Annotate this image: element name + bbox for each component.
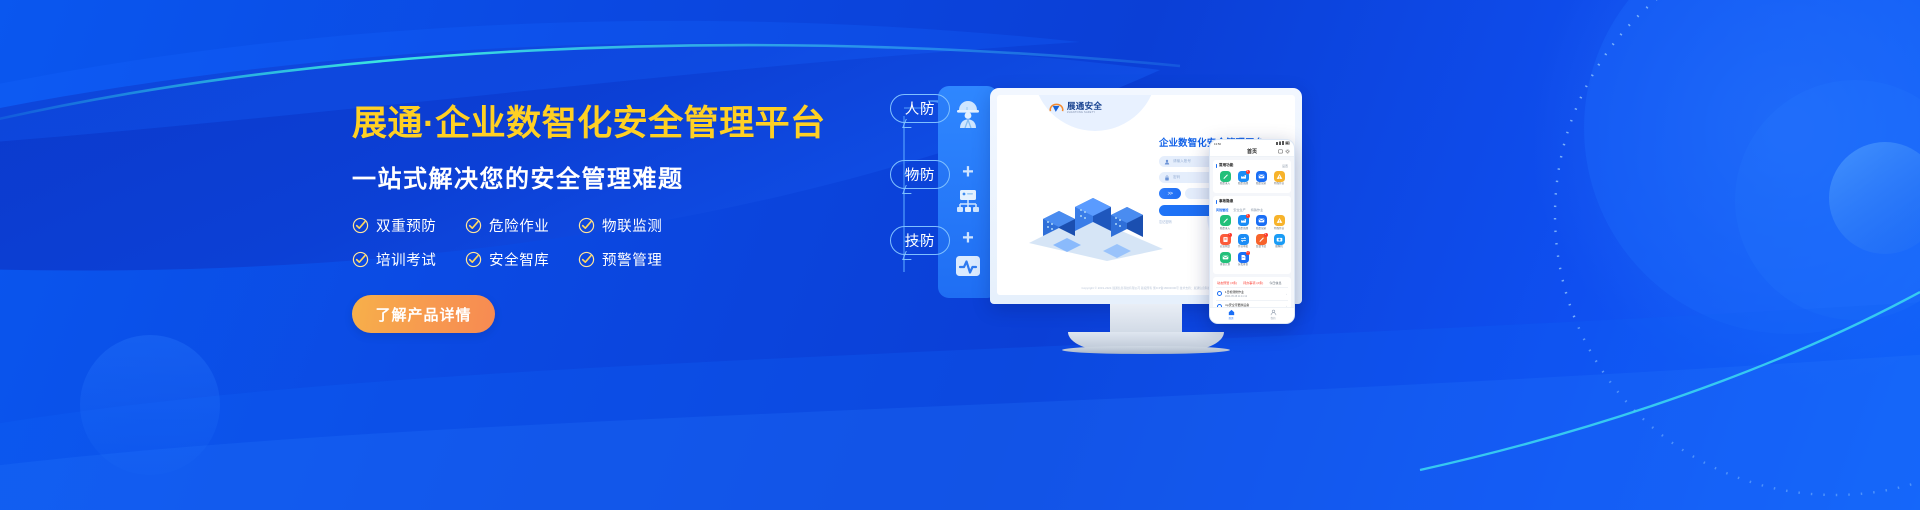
phone-tab-bar: 首页 我的 bbox=[1210, 307, 1294, 321]
app-label: 排查计划 bbox=[1220, 264, 1230, 267]
feature-item: 物联监测 bbox=[578, 215, 691, 236]
check-circle-icon bbox=[578, 251, 595, 268]
logo-cn: 展通安全 bbox=[1067, 102, 1102, 111]
app-item[interactable]: 隐患录入 bbox=[1216, 215, 1234, 230]
feature-item: 预警管理 bbox=[578, 249, 691, 270]
warning-icon bbox=[1274, 171, 1285, 182]
check-circle-icon bbox=[352, 251, 369, 268]
badge-count: 2 bbox=[1228, 233, 1232, 237]
learn-more-button[interactable]: 了解产品详情 bbox=[352, 295, 495, 333]
app-item[interactable]: 12 分类排查 bbox=[1234, 252, 1252, 267]
feature-label: 物联监测 bbox=[602, 215, 662, 236]
app-item[interactable]: 特殊作业 bbox=[1270, 171, 1288, 186]
badge-count: 12 bbox=[1246, 251, 1250, 255]
mail-icon bbox=[1256, 171, 1267, 182]
app-label: 隐患录入 bbox=[1220, 183, 1230, 186]
tab-profile[interactable]: 我的 bbox=[1252, 309, 1294, 321]
app-label: 分类排查 bbox=[1238, 264, 1248, 267]
app-label: 隐患治理 bbox=[1238, 183, 1248, 186]
tab-item[interactable]: 风险管控 bbox=[1216, 207, 1228, 212]
pillar-badge-wufang[interactable]: 物防 bbox=[890, 160, 950, 189]
chevron-right-icon: › bbox=[1286, 292, 1287, 296]
message-icon[interactable] bbox=[1278, 149, 1283, 154]
device-network-icon bbox=[938, 188, 998, 216]
list-item-text: 1日检测修作业 2024-05-28 11:41:12 bbox=[1225, 290, 1283, 298]
tab-item[interactable]: 安全生产 bbox=[1233, 207, 1245, 212]
feature-row: 双重预防 危险作业 物联监测 bbox=[352, 215, 652, 236]
app-item[interactable]: 5 监督下达 bbox=[1252, 234, 1270, 249]
pencil-icon: 5 bbox=[1256, 234, 1267, 245]
app-label: 监督下达 bbox=[1256, 246, 1266, 249]
pillar-icons: + + bbox=[938, 86, 998, 298]
app-label: 特殊作业 bbox=[1274, 183, 1284, 186]
check-circle-icon bbox=[465, 217, 482, 234]
status-dot-icon bbox=[1217, 304, 1222, 307]
app-item[interactable]: 隐患录入 bbox=[1216, 171, 1234, 186]
section-header: 常用功能 设置 bbox=[1216, 163, 1288, 168]
pillar-badge-renfang[interactable]: 人防 bbox=[890, 94, 950, 123]
page-title: 展通·企业数智化安全管理平台 bbox=[352, 104, 822, 144]
exchange-icon bbox=[1238, 234, 1249, 245]
list-item-text: my安全带更换设备 2024-05-28 11:40:15 bbox=[1225, 303, 1283, 307]
tab-label: 我的 bbox=[1270, 316, 1275, 320]
mobile-phone-mockup: 13:50 首页 bbox=[1209, 139, 1295, 324]
captcha-send-button[interactable]: >> bbox=[1159, 188, 1181, 199]
app-label: 隐患录入 bbox=[1220, 228, 1230, 231]
phone-section-hazards: 事故隐患 风险管控 安全生产 特殊作业 隐患录入 bbox=[1213, 196, 1291, 274]
feature-list: 双重预防 危险作业 物联监测 bbox=[352, 215, 652, 270]
status-time: 13:50 bbox=[1214, 142, 1221, 146]
phone-section-alerts: 动态预警 (3条) 待办事项 (2条) 今日信息 1日检测修作业 2024-05… bbox=[1213, 277, 1291, 307]
app-grid: 隐患录入 3 隐患治理 bbox=[1216, 171, 1288, 189]
tab-label: 首页 bbox=[1228, 316, 1233, 320]
feature-item: 安全智库 bbox=[465, 249, 578, 270]
lock-icon bbox=[1164, 175, 1170, 181]
pillar-label: 人防 bbox=[905, 98, 935, 119]
signal-battery-icon bbox=[1276, 141, 1290, 146]
section-title: 事故隐患 bbox=[1216, 199, 1233, 204]
camera-icon bbox=[1274, 234, 1285, 245]
mail-icon bbox=[1220, 252, 1231, 263]
app-label: 隐患治理 bbox=[1238, 228, 1248, 231]
alerts-tab-warning[interactable]: 动态预警 (3条) bbox=[1217, 280, 1237, 285]
list-item-title: 1日检测修作业 bbox=[1225, 290, 1283, 294]
list-item-title: my安全带更换设备 bbox=[1225, 303, 1283, 307]
tab-item[interactable]: 特殊作业 bbox=[1251, 207, 1263, 212]
hero-banner: 展通·企业数智化安全管理平台 一站式解决您的安全管理难题 双重预防 危险作业 bbox=[0, 0, 1920, 510]
app-label: 应急预案 bbox=[1220, 246, 1230, 249]
factory-icon: 3 bbox=[1238, 171, 1249, 182]
alerts-tab-today[interactable]: 今日信息 bbox=[1269, 280, 1281, 285]
logo-mark-icon bbox=[1049, 102, 1064, 115]
section-title: 常用功能 bbox=[1216, 163, 1233, 168]
app-item[interactable]: 特殊作业 bbox=[1270, 215, 1288, 230]
feature-item: 危险作业 bbox=[465, 215, 578, 236]
feature-item: 培训考试 bbox=[352, 249, 465, 270]
app-item[interactable]: 摄像机 bbox=[1270, 234, 1288, 249]
status-dot-icon bbox=[1217, 291, 1222, 296]
edit-doc-icon bbox=[1220, 171, 1231, 182]
pillar-label: 物防 bbox=[905, 164, 935, 185]
check-circle-icon bbox=[578, 217, 595, 234]
clipboard-icon: 2 bbox=[1220, 234, 1231, 245]
status-icons bbox=[1276, 141, 1290, 146]
edit-doc-icon bbox=[1220, 215, 1231, 226]
app-label: 隐患记录 bbox=[1256, 228, 1266, 231]
app-grid: 隐患录入 3 隐患治理 bbox=[1216, 215, 1288, 270]
list-item-time: 2024-05-28 11:41:12 bbox=[1225, 295, 1283, 298]
check-circle-icon bbox=[352, 217, 369, 234]
app-label: 摄像机 bbox=[1275, 246, 1283, 249]
app-item[interactable]: 隐患记录 bbox=[1252, 171, 1270, 186]
badge-count: 3 bbox=[1246, 170, 1250, 174]
badge-count: 5 bbox=[1264, 233, 1268, 237]
alerts-tab-todo[interactable]: 待办事项 (2条) bbox=[1243, 280, 1263, 285]
forgot-password-link[interactable]: 忘记密码 bbox=[1159, 219, 1172, 224]
hero-copy: 展通·企业数智化安全管理平台 一站式解决您的安全管理难题 双重预防 危险作业 bbox=[352, 104, 822, 333]
phone-nav-bar: 首页 bbox=[1210, 147, 1294, 157]
section-header: 事故隐患 bbox=[1216, 199, 1288, 204]
app-item[interactable]: 隐患记录 bbox=[1252, 215, 1270, 230]
pillar-label: 技防 bbox=[905, 230, 935, 251]
feature-label: 危险作业 bbox=[489, 215, 549, 236]
hero-illustration: + + bbox=[830, 0, 1920, 510]
logo-text: 展通安全 ZHANTONG SAFETY bbox=[1067, 102, 1102, 115]
phone-content: 常用功能 设置 隐患录入 3 bbox=[1210, 157, 1294, 307]
section-tabs: 风险管控 安全生产 特殊作业 bbox=[1216, 207, 1288, 212]
app-item[interactable]: 排查计划 bbox=[1216, 252, 1234, 267]
phone-nav-title: 首页 bbox=[1247, 148, 1257, 155]
logo-en: ZHANTONG SAFETY bbox=[1067, 112, 1102, 115]
factory-icon: 3 bbox=[1238, 215, 1249, 226]
app-item[interactable]: 3 隐患治理 bbox=[1234, 215, 1252, 230]
platform-logo: 展通安全 ZHANTONG SAFETY bbox=[1049, 102, 1102, 115]
monitoring-pulse-icon bbox=[938, 254, 998, 280]
badge-count: 3 bbox=[1246, 214, 1250, 218]
phone-nav-actions bbox=[1278, 149, 1290, 154]
monitor-foot bbox=[1062, 346, 1230, 354]
gear-icon[interactable] bbox=[1285, 149, 1290, 154]
app-label: 隐患记录 bbox=[1256, 183, 1266, 186]
home-icon bbox=[1228, 309, 1235, 316]
app-label: 特殊作业 bbox=[1274, 228, 1284, 231]
section-more-link[interactable]: 设置 bbox=[1282, 164, 1288, 168]
pillar-badge-jifang[interactable]: 技防 bbox=[890, 226, 950, 255]
feature-label: 安全智库 bbox=[489, 249, 549, 270]
feature-label: 预警管理 bbox=[602, 249, 662, 270]
feature-label: 培训考试 bbox=[376, 249, 436, 270]
alerts-tabs: 动态预警 (3条) 待办事项 (2条) 今日信息 bbox=[1216, 280, 1288, 287]
isometric-city-illustration bbox=[1023, 181, 1167, 261]
username-placeholder: 请输入账号 bbox=[1173, 159, 1191, 164]
app-label: 作业审批 bbox=[1238, 246, 1248, 249]
user-icon bbox=[1164, 159, 1170, 165]
app-item[interactable]: 3 隐患治理 bbox=[1234, 171, 1252, 186]
app-item[interactable]: 2 应急预案 bbox=[1216, 234, 1234, 249]
check-circle-icon bbox=[465, 251, 482, 268]
chevron-right-icon: › bbox=[1286, 304, 1287, 307]
mail-icon bbox=[1256, 215, 1267, 226]
feature-row: 培训考试 安全智库 预警管理 bbox=[352, 249, 652, 270]
feature-label: 双重预防 bbox=[376, 215, 436, 236]
doc-icon: 12 bbox=[1238, 252, 1249, 263]
feature-item: 双重预防 bbox=[352, 215, 465, 236]
app-item[interactable]: 作业审批 bbox=[1234, 234, 1252, 249]
tab-home[interactable]: 首页 bbox=[1210, 309, 1252, 321]
user-icon bbox=[1270, 309, 1277, 316]
page-subtitle: 一站式解决您的安全管理难题 bbox=[352, 159, 822, 194]
warning-icon bbox=[1274, 215, 1285, 226]
list-item[interactable]: 1日检测修作业 2024-05-28 11:41:12 › bbox=[1216, 287, 1288, 300]
phone-section-common: 常用功能 设置 隐患录入 3 bbox=[1213, 160, 1291, 193]
password-placeholder: 密码 bbox=[1173, 175, 1180, 180]
list-item[interactable]: my安全带更换设备 2024-05-28 11:40:15 › bbox=[1216, 300, 1288, 307]
phone-status-bar: 13:50 bbox=[1210, 140, 1294, 147]
